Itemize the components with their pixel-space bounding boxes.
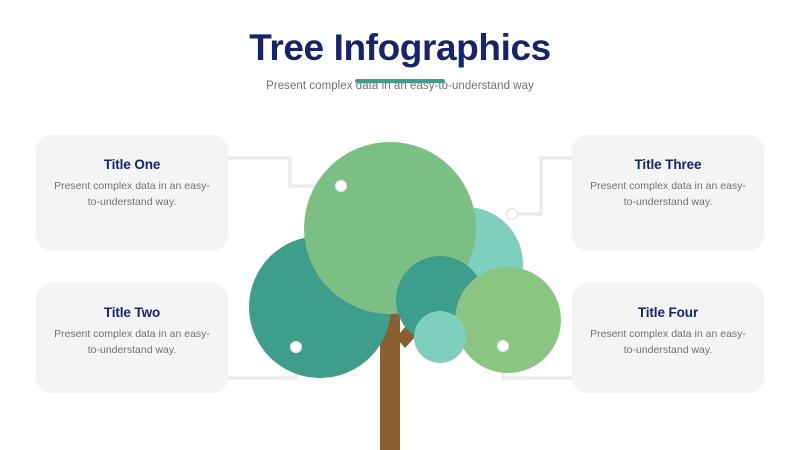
- canopy-small-aqua: [414, 311, 466, 363]
- info-card-four[interactable]: Title Four Present complex data in an ea…: [572, 283, 764, 393]
- card-two-title: Title Two: [50, 305, 214, 320]
- connector-dot-four: [498, 341, 509, 352]
- connector-dot-three: [507, 209, 518, 220]
- canopy-lower-green: [455, 267, 561, 373]
- card-one-body: Present complex data in an easy-to-under…: [50, 179, 214, 210]
- connector-dot-one: [336, 181, 347, 192]
- card-two-body: Present complex data in an easy-to-under…: [50, 327, 214, 358]
- card-three-title: Title Three: [586, 157, 750, 172]
- info-card-one[interactable]: Title One Present complex data in an eas…: [36, 135, 228, 251]
- card-one-title: Title One: [50, 157, 214, 172]
- info-card-two[interactable]: Title Two Present complex data in an eas…: [36, 283, 228, 393]
- card-three-body: Present complex data in an easy-to-under…: [586, 179, 750, 210]
- infographic-slide: Tree Infographics Present complex data i…: [0, 0, 800, 450]
- card-four-title: Title Four: [586, 305, 750, 320]
- connector-line-three: [512, 158, 572, 214]
- connector-dot-two: [291, 342, 302, 353]
- card-four-body: Present complex data in an easy-to-under…: [586, 327, 750, 358]
- info-card-three[interactable]: Title Three Present complex data in an e…: [572, 135, 764, 251]
